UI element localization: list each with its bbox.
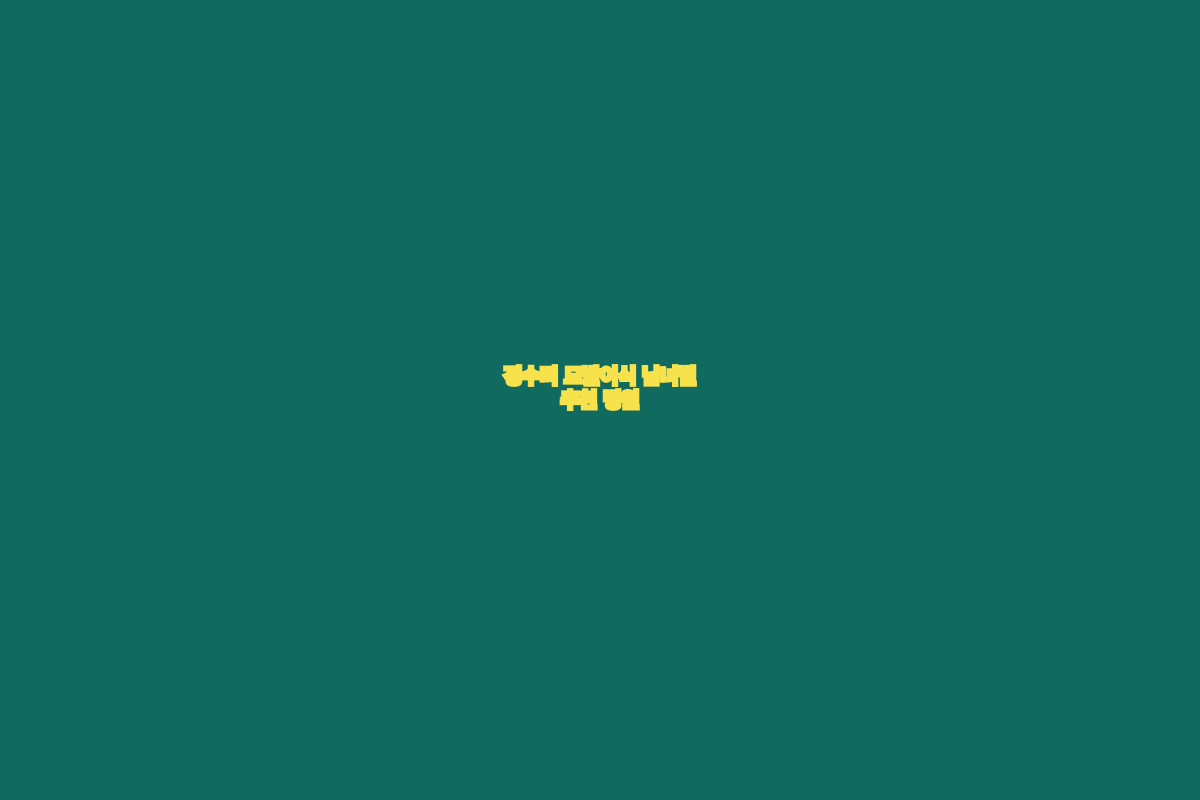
thumbnail-card: 정수리 모발이식 남녀별 추천 병원	[0, 0, 1200, 800]
title-line-1: 정수리 모발이식 남녀별	[40, 364, 1160, 388]
title-block: 정수리 모발이식 남녀별 추천 병원	[0, 364, 1200, 413]
title-line-2: 추천 병원	[40, 388, 1160, 412]
